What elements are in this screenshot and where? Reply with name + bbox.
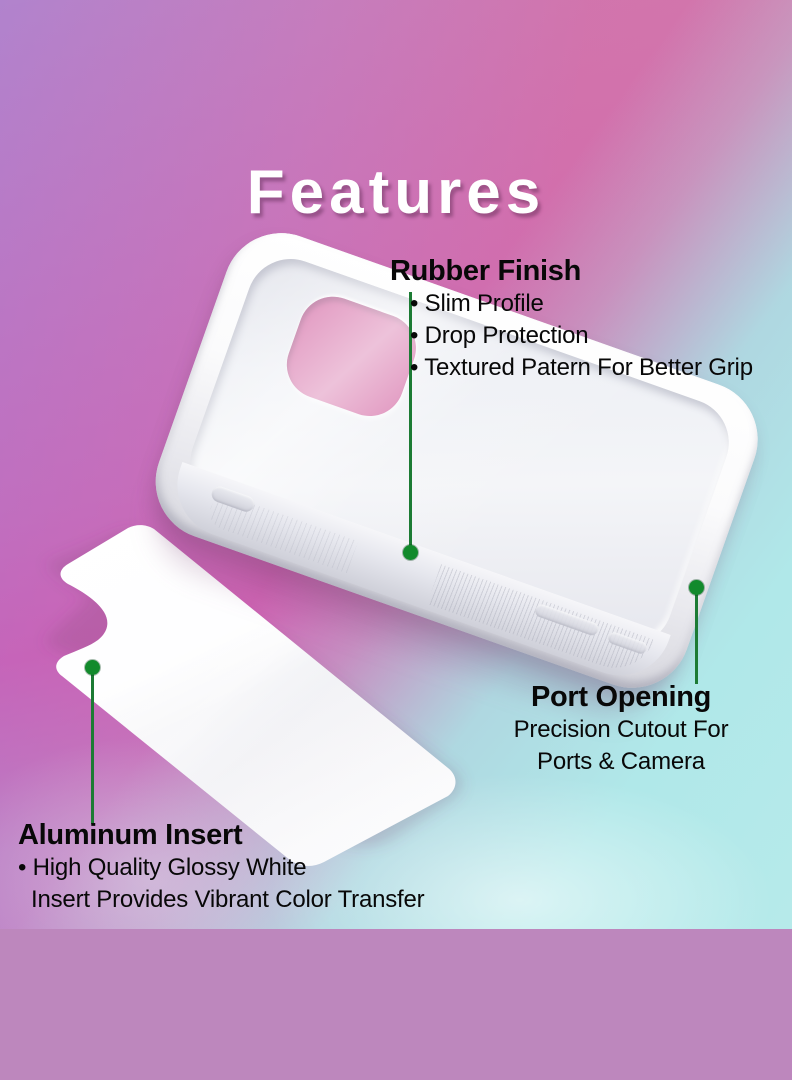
- bullet-item: • Slim Profile: [410, 288, 753, 320]
- leader-dot: [689, 580, 704, 595]
- bullet-item: • High Quality Glossy White: [18, 852, 424, 884]
- callout-bullets: • Slim Profile • Drop Protection • Textu…: [388, 286, 753, 383]
- callout-heading: Rubber Finish: [388, 256, 753, 286]
- bullet-item: Precision Cutout For: [456, 714, 786, 746]
- page-title: Features: [0, 162, 792, 224]
- callout-heading: Port Opening: [456, 682, 786, 712]
- callout-heading: Aluminum Insert: [18, 820, 424, 850]
- bullet-item: Ports & Camera: [456, 746, 786, 778]
- leader-dot: [403, 545, 418, 560]
- callout-bullets: Precision Cutout For Ports & Camera: [456, 712, 786, 777]
- bullet-item: • Drop Protection: [410, 320, 753, 352]
- leader-line: [91, 672, 94, 824]
- leader-line: [695, 592, 698, 684]
- bullet-item: • Textured Patern For Better Grip: [410, 352, 753, 384]
- infographic-page: Features Rubber Finish • Slim Profile • …: [0, 0, 792, 1080]
- callout-bullets: • High Quality Glossy White Insert Provi…: [18, 850, 424, 915]
- callout-aluminum-insert: Aluminum Insert • High Quality Glossy Wh…: [18, 820, 424, 916]
- callout-rubber-finish: Rubber Finish • Slim Profile • Drop Prot…: [388, 256, 753, 383]
- leader-dot: [85, 660, 100, 675]
- product-graphic-panel: Features Rubber Finish • Slim Profile • …: [0, 0, 792, 929]
- bullet-item: Insert Provides Vibrant Color Transfer: [18, 884, 424, 916]
- callout-port-opening: Port Opening Precision Cutout For Ports …: [456, 682, 786, 778]
- bottom-color-band: [0, 929, 792, 1080]
